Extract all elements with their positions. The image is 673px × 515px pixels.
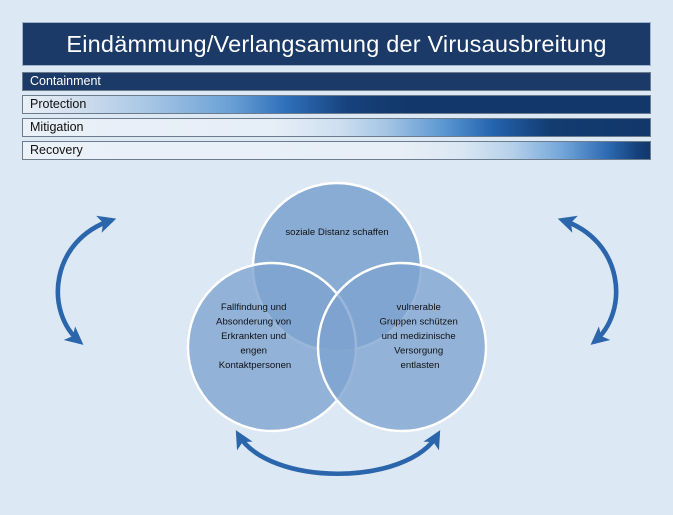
- slide-canvas: Eindämmung/Verlangsamung der Virusausbre…: [0, 0, 673, 515]
- phase-bar-label: Recovery: [23, 144, 83, 157]
- arrow-right: [562, 220, 616, 342]
- phase-bar-containment: Containment: [22, 72, 651, 91]
- phase-bar-recovery: Recovery: [22, 141, 651, 160]
- phase-bar-label: Mitigation: [23, 121, 84, 134]
- phase-bar-fill: [23, 142, 650, 159]
- slide-title-bar: Eindämmung/Verlangsamung der Virusausbre…: [22, 22, 651, 66]
- phase-bar-label: Protection: [23, 98, 86, 111]
- phase-bar-fill: [23, 119, 650, 136]
- venn-diagram-svg: soziale Distanz schaffen Fallfindung und…: [0, 162, 673, 515]
- phase-bar-protection: Protection: [22, 95, 651, 114]
- phase-bar-fill: [23, 96, 650, 113]
- phase-bar-label: Containment: [23, 75, 101, 88]
- arrow-bottom: [238, 434, 438, 474]
- phase-bar-mitigation: Mitigation: [22, 118, 651, 137]
- venn-diagram-stage: soziale Distanz schaffen Fallfindung und…: [0, 162, 673, 515]
- venn-label-top: soziale Distanz schaffen: [285, 227, 388, 238]
- arrow-left: [58, 220, 112, 342]
- phase-bar-fill: [23, 73, 650, 90]
- venn-label-left: Fallfindung und Absonderung von Erkrankt…: [216, 302, 294, 371]
- page-title: Eindämmung/Verlangsamung der Virusausbre…: [66, 31, 606, 58]
- phase-bar-list: Containment Protection Mitigation Recove…: [22, 72, 651, 164]
